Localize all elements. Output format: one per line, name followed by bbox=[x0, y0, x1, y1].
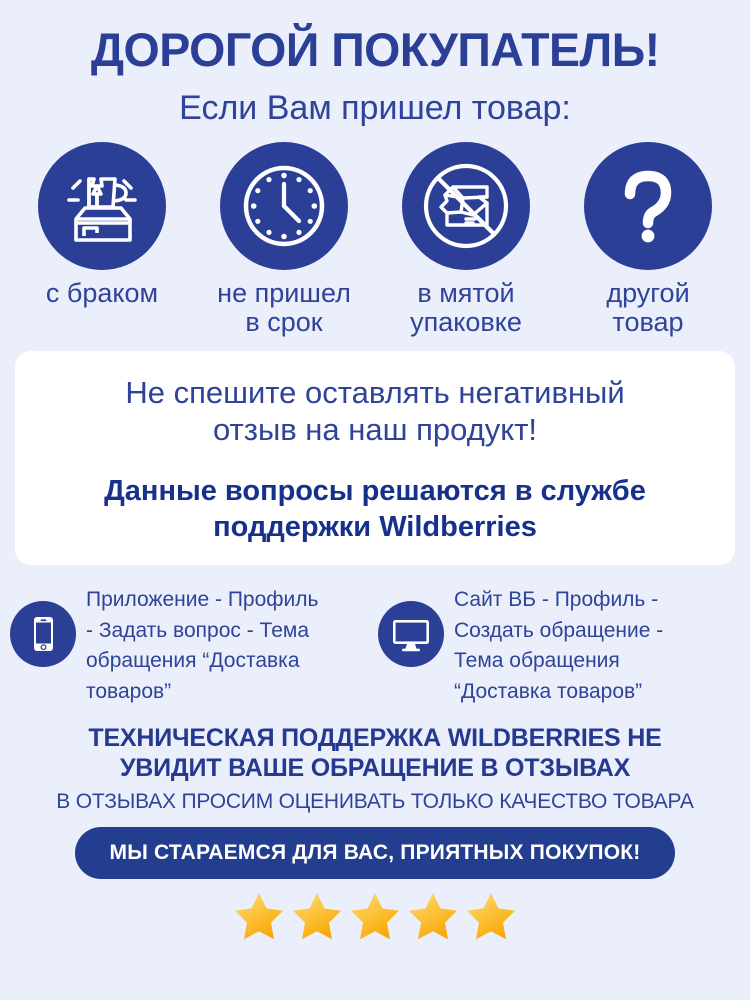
issue-icons-row: с браком bbox=[0, 142, 750, 337]
star-icon bbox=[289, 888, 345, 944]
issue-item-crumpled: в мятой упаковке bbox=[378, 142, 554, 337]
advice-secondary-text: Данные вопросы решаются в службе поддерж… bbox=[104, 474, 646, 545]
issue-label: не пришел в срок bbox=[217, 279, 351, 337]
issue-item-defective: с браком bbox=[14, 142, 190, 337]
issue-label: другой товар bbox=[606, 279, 689, 337]
broken-cup-in-box-icon bbox=[56, 160, 148, 252]
advice-card: Не спешите оставлять негативный отзыв на… bbox=[15, 351, 735, 565]
issue-item-wrong-product: другой товар bbox=[560, 142, 736, 337]
page-subtitle: Если Вам пришел товар: bbox=[179, 89, 571, 128]
issue-label: с браком bbox=[46, 279, 158, 308]
issue-icon-circle bbox=[38, 142, 166, 270]
star-icon bbox=[405, 888, 461, 944]
smartphone-icon bbox=[22, 613, 64, 655]
star-icon bbox=[347, 888, 403, 944]
channel-mobile-app: Приложение - Профиль - Задать вопрос - Т… bbox=[10, 583, 372, 707]
desktop-monitor-icon bbox=[388, 611, 434, 657]
support-channels: Приложение - Профиль - Задать вопрос - Т… bbox=[0, 583, 750, 707]
notice-subtext: В ОТЗЫВАХ ПРОСИМ ОЦЕНИВАТЬ ТОЛЬКО КАЧЕСТ… bbox=[0, 790, 750, 814]
rating-stars bbox=[231, 888, 519, 944]
channel-icon-circle bbox=[378, 601, 444, 667]
star-icon bbox=[231, 888, 287, 944]
issue-icon-circle bbox=[220, 142, 348, 270]
issue-icon-circle bbox=[402, 142, 530, 270]
no-crumpled-package-icon bbox=[417, 157, 515, 255]
channel-instructions: Сайт ВБ - Профиль - Создать обращение - … bbox=[454, 583, 663, 707]
advice-primary-text: Не спешите оставлять негативный отзыв на… bbox=[125, 375, 624, 448]
star-icon bbox=[463, 888, 519, 944]
notice-heading: ТЕХНИЧЕСКАЯ ПОДДЕРЖКА WILDBERRIES НЕ УВИ… bbox=[0, 723, 750, 783]
issue-label: в мятой упаковке bbox=[410, 279, 522, 337]
support-notice: ТЕХНИЧЕСКАЯ ПОДДЕРЖКА WILDBERRIES НЕ УВИ… bbox=[0, 723, 750, 814]
question-mark-icon bbox=[605, 163, 691, 249]
issue-item-late: не пришел в срок bbox=[196, 142, 372, 337]
channel-website: Сайт ВБ - Профиль - Создать обращение - … bbox=[378, 583, 740, 707]
clock-icon bbox=[236, 158, 332, 254]
thanks-cta-button[interactable]: МЫ СТАРАЕМСЯ ДЛЯ ВАС, ПРИЯТНЫХ ПОКУПОК! bbox=[75, 827, 675, 879]
page-title: ДОРОГОЙ ПОКУПАТЕЛЬ! bbox=[91, 22, 660, 77]
channel-instructions: Приложение - Профиль - Задать вопрос - Т… bbox=[86, 583, 319, 707]
issue-icon-circle bbox=[584, 142, 712, 270]
channel-icon-circle bbox=[10, 601, 76, 667]
promo-card: ДОРОГОЙ ПОКУПАТЕЛЬ! Если Вам пришел това… bbox=[0, 0, 750, 1000]
